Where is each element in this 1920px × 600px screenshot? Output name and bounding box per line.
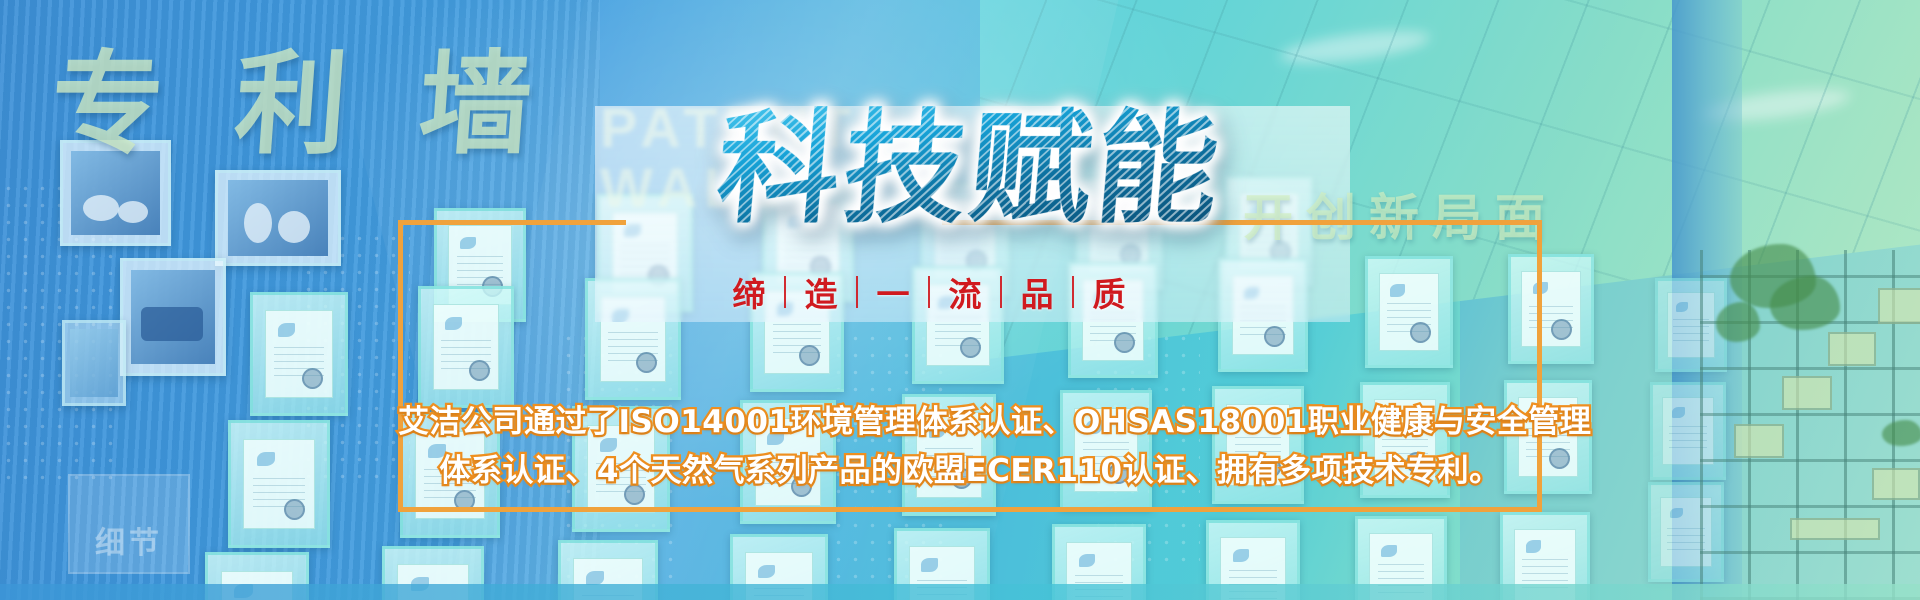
subtitle-char: 质 (1074, 268, 1144, 316)
detail-label-box: 细节 (68, 474, 190, 574)
subtitle-separator (1000, 276, 1002, 308)
certificate-frame (250, 292, 348, 416)
body-paragraph: 艾洁公司通过了ISO14001环境管理体系认证、OHSAS18001职业健康与安… (398, 398, 1542, 496)
subtitle-char: 造 (786, 268, 856, 316)
wall-photo-image (228, 180, 329, 256)
subtitle-row: 缔 造 一 流 品 质 (714, 268, 1144, 316)
wall-photo (120, 258, 226, 376)
photo-highlight (118, 201, 148, 223)
photo-highlight (278, 211, 310, 243)
subtitle-char: 一 (858, 268, 928, 316)
detail-label-text: 细节 (70, 518, 188, 562)
wall-photo-image (70, 329, 119, 396)
subtitle-char: 缔 (714, 268, 784, 316)
certificate-frame (1365, 256, 1453, 368)
patent-wall-banner: 细节 专利墙 PATENT WALL (0, 0, 1920, 600)
page-title: 科技赋能 (712, 104, 1227, 234)
body-line: 艾洁公司通过了ISO14001环境管理体系认证、OHSAS18001职业健康与安… (398, 398, 1542, 447)
subtitle-separator (856, 276, 858, 308)
photo-highlight (141, 307, 203, 341)
plant-icon (1716, 302, 1760, 342)
office-shelving-unit (1700, 250, 1920, 600)
photo-highlight (83, 195, 119, 221)
certificate-frame (228, 420, 330, 548)
subtitle-char: 流 (930, 268, 1000, 316)
body-line: 体系认证、4个天然气系列产品的欧盟ECER110认证、拥有多项技术专利。 (398, 447, 1542, 496)
subtitle-separator (928, 276, 930, 308)
wall-sub-calligraphy-text: 开创新局面 (1243, 178, 1558, 250)
photo-highlight (244, 203, 272, 243)
shelf-box (1872, 468, 1920, 500)
shelf-box (1782, 376, 1832, 410)
subtitle-separator (784, 276, 786, 308)
subtitle-separator (1072, 276, 1074, 308)
certificate-frame (418, 286, 514, 408)
ceiling-lamp-icon (1280, 25, 1430, 69)
subtitle-char: 品 (1002, 268, 1072, 316)
wall-photo (215, 170, 341, 266)
shelf-box (1878, 288, 1920, 324)
shelf-box (1734, 424, 1784, 458)
plant-icon (1882, 420, 1920, 446)
shelf-box (1828, 332, 1876, 366)
wall-photo (62, 320, 126, 406)
wall-calligraphy-text: 专利墙 (46, 14, 609, 176)
floor-reflection-strip (0, 584, 1920, 600)
shelf-box (1790, 518, 1880, 540)
certificate-frame (1508, 254, 1594, 364)
